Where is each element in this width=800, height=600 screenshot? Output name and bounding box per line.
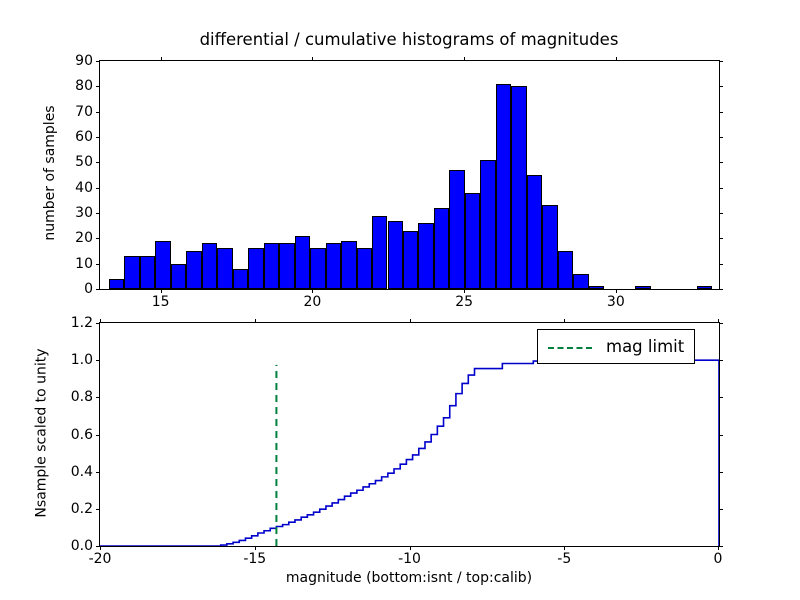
legend[interactable]: mag limit: [537, 329, 695, 364]
top-axes-xticklabel: 20: [303, 294, 321, 310]
bottom-axes-xtick: [255, 546, 256, 550]
histogram-bar: [635, 286, 650, 289]
bottom-axes-xticklabel: -15: [243, 551, 266, 567]
top-axes-yticklabel: 40: [75, 180, 93, 196]
bottom-axes-ytick-right: [719, 397, 723, 398]
bottom-axes-xlabel: magnitude (bottom:isnt / top:calib): [99, 570, 719, 586]
bottom-axes-ytick: [96, 397, 100, 398]
top-axes-yticklabel: 90: [75, 53, 93, 69]
top-axes-ytick-right: [719, 112, 723, 113]
top-axes-xtick-top: [464, 57, 465, 61]
bottom-axes-xticklabel: -5: [557, 551, 571, 567]
top-axes-ytick-right: [719, 162, 723, 163]
top-axes-ytick: [96, 213, 100, 214]
bottom-axes-yticklabel: 1.0: [71, 352, 93, 368]
histogram-bar: [233, 269, 248, 289]
top-axes-ytick-right: [719, 137, 723, 138]
histogram-bar: [171, 264, 186, 289]
top-axes-ytick-right: [719, 238, 723, 239]
cumulative-curve-line: [100, 360, 719, 546]
bottom-axes-ytick-right: [719, 509, 723, 510]
histogram-bar: [465, 193, 480, 289]
histogram-bar: [186, 251, 201, 289]
top-axes-ytick-right: [719, 86, 723, 87]
top-axes-xtick: [464, 289, 465, 293]
bottom-axes-xtick: [564, 546, 565, 550]
top-axes-yticklabel: 30: [75, 205, 93, 221]
histogram-bar: [542, 205, 557, 289]
histogram-bar: [527, 175, 542, 289]
histogram-bar: [310, 248, 325, 289]
bottom-axes-yticklabel: 0.8: [71, 389, 93, 405]
top-axes-xtick: [161, 289, 162, 293]
histogram-bar: [449, 170, 464, 289]
bottom-axes-ytick: [96, 472, 100, 473]
top-axes-ytick: [96, 264, 100, 265]
bottom-axes-xtick: [100, 546, 101, 550]
histogram-bar: [109, 279, 124, 289]
histogram-bar: [357, 248, 372, 289]
top-axes-ytick-right: [719, 213, 723, 214]
top-axes-ytick-right: [719, 188, 723, 189]
bottom-axes-xticklabel: 0: [714, 551, 723, 567]
histogram-bar: [496, 84, 511, 289]
top-axes-yticklabel: 60: [75, 129, 93, 145]
histogram-bar: [697, 286, 712, 289]
bottom-axes-xtick-top: [718, 319, 719, 323]
top-axes-yticklabel: 20: [75, 230, 93, 246]
bottom-axes-ytick: [96, 509, 100, 510]
histogram-bar: [248, 248, 263, 289]
bottom-axes-xticklabel: -20: [89, 551, 112, 567]
bottom-axes-ytick-right: [719, 435, 723, 436]
top-axes-xtick: [312, 289, 313, 293]
top-axes-yticklabel: 0: [84, 281, 93, 297]
histogram-bar: [326, 243, 341, 289]
bottom-axes-yticklabel: 0.4: [71, 464, 93, 480]
histogram-bar: [202, 243, 217, 289]
histogram-bar: [434, 208, 449, 289]
legend-item-label: mag limit: [606, 337, 684, 356]
top-axes-ytick-right: [719, 289, 723, 290]
bottom-axes-xticklabel: -10: [398, 551, 421, 567]
top-axes-yticklabel: 80: [75, 78, 93, 94]
top-axes-ytick: [96, 137, 100, 138]
bottom-axes-ytick-right: [719, 323, 723, 324]
histogram-bar: [341, 241, 356, 289]
histogram-bar: [140, 256, 155, 289]
histogram-bar: [217, 248, 232, 289]
bottom-axes-ytick: [96, 360, 100, 361]
bottom-axes-xtick: [410, 546, 411, 550]
histogram-bar: [558, 251, 573, 289]
top-axes-yticklabel: 50: [75, 154, 93, 170]
histogram-bar: [511, 86, 526, 289]
top-axes-ytick-right: [719, 61, 723, 62]
top-axes-ytick: [96, 86, 100, 87]
bottom-axes-yticklabel: 0.6: [71, 427, 93, 443]
differential-histogram-plot-area: [100, 61, 719, 289]
bottom-axes-xtick-top: [564, 319, 565, 323]
bottom-axes-ytick: [96, 435, 100, 436]
bottom-axes-ytick: [96, 323, 100, 324]
histogram-bar: [589, 286, 604, 289]
top-axes-xticklabel: 25: [455, 294, 473, 310]
top-axes-ytick: [96, 162, 100, 163]
mag-limit-dashed-line-icon: [548, 340, 592, 354]
top-axes-ylabel: number of samples: [42, 59, 58, 287]
top-axes-xticklabel: 15: [152, 294, 170, 310]
top-axes-ytick-right: [719, 264, 723, 265]
top-axes-xticklabel: 30: [607, 294, 625, 310]
top-axes-ytick: [96, 112, 100, 113]
top-axes-ytick: [96, 188, 100, 189]
figure-title: differential / cumulative histograms of …: [99, 30, 719, 50]
histogram-bar: [124, 256, 139, 289]
histogram-bar: [403, 231, 418, 289]
histogram-bar: [295, 236, 310, 289]
histogram-bar: [155, 241, 170, 289]
bottom-axes-yticklabel: 0.2: [71, 501, 93, 517]
histogram-bar: [279, 243, 294, 289]
histogram-bar: [372, 216, 387, 289]
bottom-axes-xtick-top: [100, 319, 101, 323]
bottom-axes-xtick: [718, 546, 719, 550]
top-axes-ytick: [96, 238, 100, 239]
bottom-axes-ytick-right: [719, 472, 723, 473]
top-axes-yticklabel: 10: [75, 256, 93, 272]
bottom-axes-xtick-top: [410, 319, 411, 323]
top-axes-xtick-top: [616, 57, 617, 61]
bottom-axes-xtick-top: [255, 319, 256, 323]
histogram-bar: [418, 223, 433, 289]
figure-canvas: differential / cumulative histograms of …: [0, 0, 800, 600]
histogram-bar: [573, 274, 588, 289]
bottom-axes-yticklabel: 1.2: [71, 315, 93, 331]
top-axes-xtick-top: [312, 57, 313, 61]
differential-histogram-axes: 010203040506070809015202530: [99, 60, 720, 290]
histogram-bar: [480, 160, 495, 289]
top-axes-ytick: [96, 61, 100, 62]
bottom-axes-ytick-right: [719, 360, 723, 361]
histogram-bar: [388, 221, 403, 289]
top-axes-ytick: [96, 289, 100, 290]
top-axes-xtick-top: [161, 57, 162, 61]
top-axes-xtick: [616, 289, 617, 293]
bottom-axes-ylabel: Nsample scaled to unity: [33, 321, 49, 544]
bottom-axes-ytick-right: [719, 546, 723, 547]
top-axes-yticklabel: 70: [75, 104, 93, 120]
histogram-bar: [264, 243, 279, 289]
